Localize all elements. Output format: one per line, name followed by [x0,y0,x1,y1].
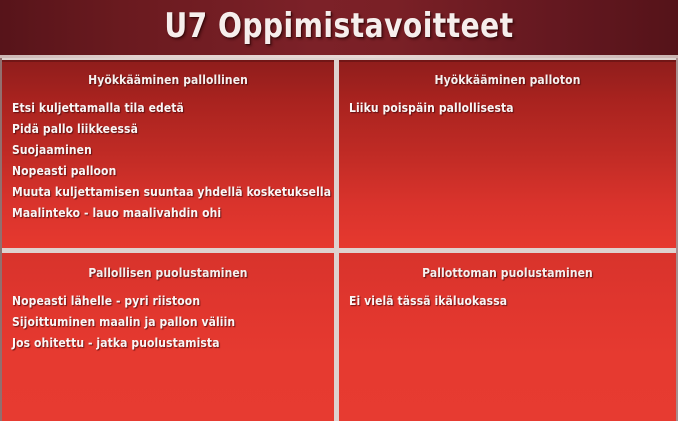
objectives-grid: Hyökkääminen pallollinen Etsi kuljettama… [0,58,678,421]
quadrant-header-attacking-without-ball: Hyökkääminen palloton [349,73,666,87]
quadrant-defending-ball-carrier: Pallollisen puolustaminen Nopeasti lähel… [2,253,334,421]
list-item: Liiku poispäin pallollisesta [349,98,666,119]
left-edge-border [0,58,2,421]
quadrant-header-defending-off-ball: Pallottoman puolustaminen [349,266,666,280]
list-item: Jos ohitettu - jatka puolustamista [12,333,324,354]
quadrant-defending-off-ball: Pallottoman puolustaminen Ei vielä tässä… [339,253,676,421]
objective-list-defending-off-ball: Ei vielä tässä ikäluokassa [349,291,666,312]
quadrant-attacking-without-ball: Hyökkääminen palloton Liiku poispäin pal… [339,60,676,248]
list-item: Ei vielä tässä ikäluokassa [349,291,666,312]
list-item: Etsi kuljettamalla tila edetä [12,98,324,119]
objective-list-attacking-without-ball: Liiku poispäin pallollisesta [349,98,666,119]
panel-top-rule [2,60,334,62]
panel-top-rule [339,60,676,62]
objective-list-attacking-with-ball: Etsi kuljettamalla tila edetä Pidä pallo… [12,98,324,224]
list-item: Muuta kuljettamisen suuntaa yhdellä kosk… [12,182,324,203]
slide-banner: U7 Oppimistavoitteet [0,0,678,58]
quadrant-header-defending-ball-carrier: Pallollisen puolustaminen [12,266,324,280]
list-item: Sijoittuminen maalin ja pallon väliin [12,312,324,333]
list-item: Pidä pallo liikkeessä [12,119,324,140]
list-item: Suojaaminen [12,140,324,161]
list-item: Nopeasti palloon [12,161,324,182]
quadrant-header-attacking-with-ball: Hyökkääminen pallollinen [12,73,324,87]
objective-list-defending-ball-carrier: Nopeasti lähelle - pyri riistoon Sijoitt… [12,291,324,354]
list-item: Nopeasti lähelle - pyri riistoon [12,291,324,312]
list-item: Maalinteko - lauo maalivahdin ohi [12,203,324,224]
quadrant-attacking-with-ball: Hyökkääminen pallollinen Etsi kuljettama… [2,60,334,248]
slide-root: U7 Oppimistavoitteet Hyökkääminen pallol… [0,0,678,421]
page-title: U7 Oppimistavoitteet [27,6,651,46]
